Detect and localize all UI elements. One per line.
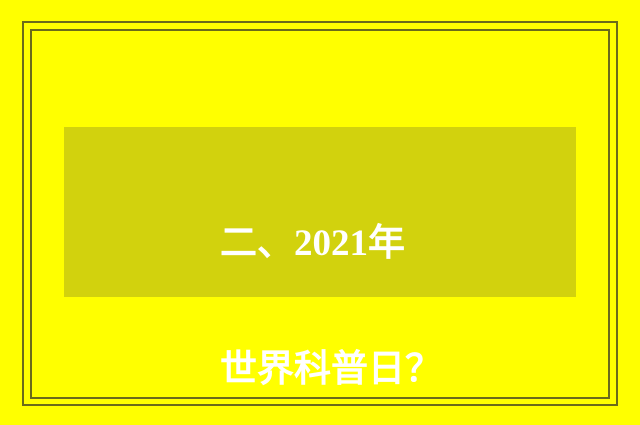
slide-canvas: 二、2021年 世界科普日？ [0,0,640,425]
title-text-block: 二、2021年 世界科普日？ [220,149,560,425]
title-line-2: 世界科普日？ [220,338,560,401]
title-panel: 二、2021年 世界科普日？ [64,127,576,297]
title-line-1: 二、2021年 [220,212,560,275]
